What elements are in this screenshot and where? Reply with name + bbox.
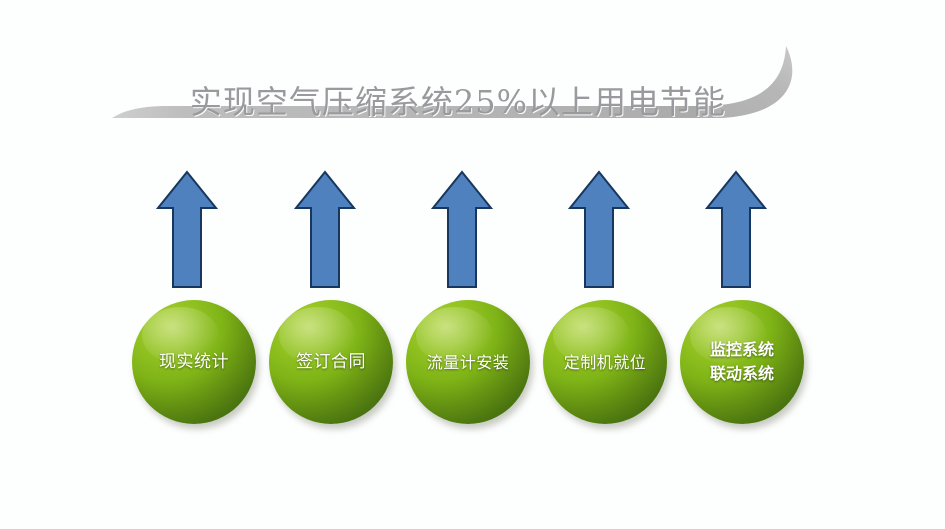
up-arrow-icon-3 bbox=[431, 170, 493, 290]
node-label-line: 定制机就位 bbox=[564, 351, 647, 374]
process-node-4[interactable]: 定制机就位 bbox=[543, 300, 667, 424]
node-label-line-2: 联动系统 bbox=[710, 362, 774, 386]
up-arrow-icon-5 bbox=[705, 170, 767, 290]
node-label-line: 现实统计 bbox=[159, 351, 229, 374]
node-label-line: 签订合同 bbox=[296, 351, 366, 374]
title-banner: 实现空气压缩系统25%以上用电节能 bbox=[110, 34, 810, 144]
node-label-3: 流量计安装 bbox=[406, 300, 530, 424]
process-node-3[interactable]: 流量计安装 bbox=[406, 300, 530, 424]
node-label-line: 流量计安装 bbox=[427, 351, 510, 374]
node-label-4: 定制机就位 bbox=[543, 300, 667, 424]
process-node-5[interactable]: 监控系统 联动系统 bbox=[680, 300, 804, 424]
process-node-2[interactable]: 签订合同 bbox=[269, 300, 393, 424]
node-label-1: 现实统计 bbox=[132, 300, 256, 424]
up-arrow-icon-1 bbox=[156, 170, 218, 290]
node-label-line-1: 监控系统 bbox=[710, 338, 774, 362]
up-arrow-icon-2 bbox=[294, 170, 356, 290]
up-arrow-icon-4 bbox=[568, 170, 630, 290]
process-node-1[interactable]: 现实统计 bbox=[132, 300, 256, 424]
slide-canvas: 实现空气压缩系统25%以上用电节能 现实统计 签订合同 bbox=[0, 0, 945, 529]
page-title: 实现空气压缩系统25%以上用电节能 bbox=[158, 80, 758, 124]
node-label-5: 监控系统 联动系统 bbox=[680, 300, 804, 424]
node-label-2: 签订合同 bbox=[269, 300, 393, 424]
